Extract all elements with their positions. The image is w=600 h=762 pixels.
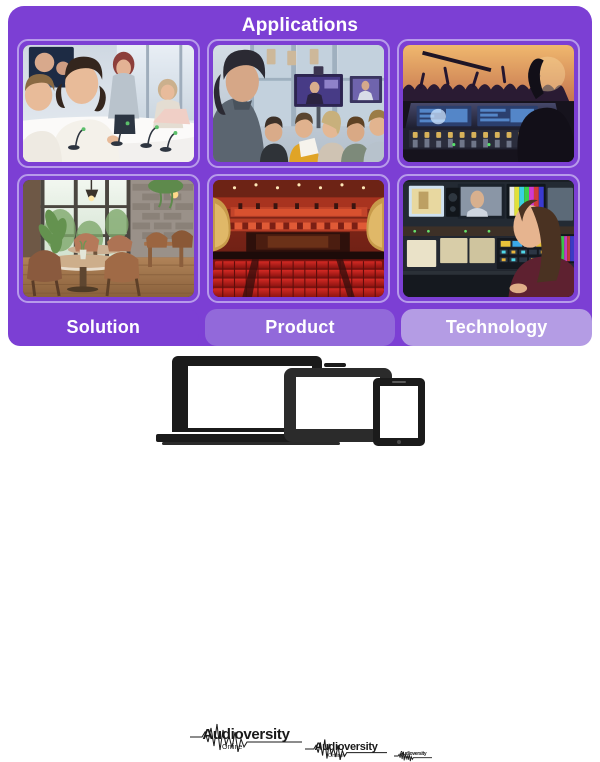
tile-theatre[interactable] <box>207 174 390 303</box>
page-title: Applications <box>8 6 592 38</box>
tab-product[interactable]: Product <box>205 309 396 346</box>
application-tile-grid <box>17 39 583 303</box>
broadcast-control-room-photo <box>403 180 574 297</box>
tile-live-sound[interactable] <box>397 39 580 168</box>
lecture-hall-photo <box>213 45 384 162</box>
tab-technology-label: Technology <box>446 317 548 338</box>
tile-broadcast[interactable] <box>397 174 580 303</box>
tile-lecture-hall[interactable] <box>207 39 390 168</box>
laptop-screen-logo: Audioversity Online <box>196 727 296 751</box>
tablet-screen-logo: Audioversity Online <box>310 742 382 760</box>
devices-illustration <box>0 346 600 451</box>
tablet-logo-word: Audioversity <box>314 742 377 753</box>
laptop-logo-subtitle: Online <box>222 744 242 751</box>
live-concert-mixing-console-photo <box>403 45 574 162</box>
laptop-logo-word: Audioversity <box>202 727 289 742</box>
tab-solution[interactable]: Solution <box>8 309 199 346</box>
category-tab-row: Solution Product Technology <box>8 309 592 346</box>
tab-solution-label: Solution <box>67 317 141 338</box>
applications-panel: Applications <box>8 6 592 346</box>
tile-cafe[interactable] <box>17 174 200 303</box>
tab-technology[interactable]: Technology <box>401 309 592 346</box>
phone-screen-logo: Audioversity Online <box>396 752 430 760</box>
cafe-restaurant-interior-photo <box>23 180 194 297</box>
conference-meeting-photo <box>23 45 194 162</box>
tile-conference-room[interactable] <box>17 39 200 168</box>
tab-product-label: Product <box>265 317 334 338</box>
phone-device <box>373 378 425 446</box>
tablet-logo-subtitle: Online <box>328 754 344 760</box>
device-mockups: Audioversity Online Audioversity Online … <box>0 346 600 451</box>
phone-logo-subtitle: Online <box>404 757 412 760</box>
theatre-auditorium-photo <box>213 180 384 297</box>
